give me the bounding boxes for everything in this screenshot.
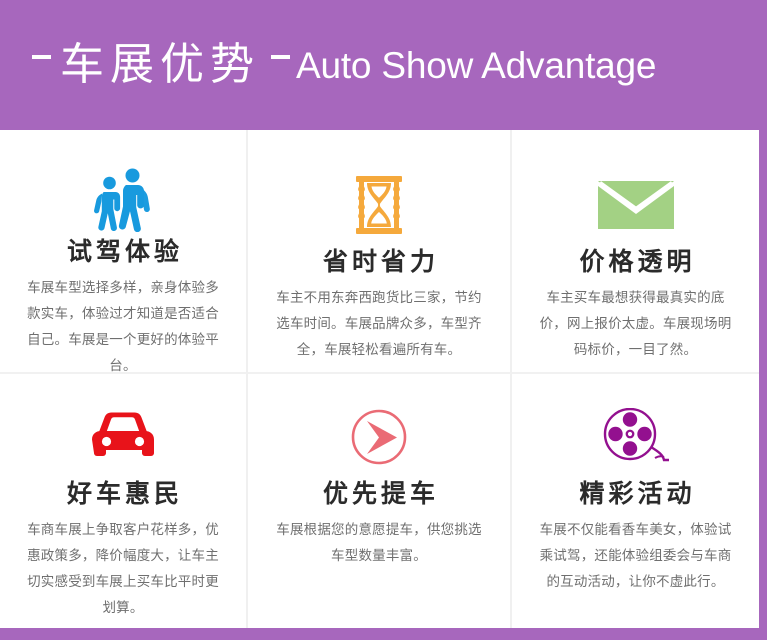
right-purple-border bbox=[759, 130, 767, 640]
feature-description: 车展不仅能看香车美女，体验试乘试驾，还能体验组委会与车商的互动活动，让你不虚此行… bbox=[534, 517, 737, 596]
feature-card-priority-pickup: 优先提车 车展根据您的意愿提车，供您挑选车型数量丰富。 bbox=[248, 374, 512, 628]
feature-card-exciting-events: 精彩活动 车展不仅能看香车美女，体验试乘试驾，还能体验组委会与车商的互动活动，让… bbox=[512, 374, 759, 628]
feature-title: 省时省力 bbox=[319, 248, 439, 276]
feature-title: 精彩活动 bbox=[575, 480, 695, 508]
feature-grid: 试驾体验 车展车型选择多样，亲身体验多款实车，体验过才知道是否适合自己。车展是一… bbox=[0, 130, 759, 628]
film-reel-icon bbox=[601, 400, 671, 474]
feature-card-good-car-benefit: 好车惠民 车商车展上争取客户花样多，优惠政策多，降价幅度大，让车主切实感受到车展… bbox=[0, 374, 248, 628]
arrow-in-circle-icon bbox=[350, 400, 408, 474]
feature-description: 车主买车最想获得最真实的底价，网上报价太虚。车展现场明码标价，一目了然。 bbox=[534, 285, 737, 364]
feature-card-test-drive: 试驾体验 车展车型选择多样，亲身体验多款实车，体验过才知道是否适合自己。车展是一… bbox=[0, 130, 248, 374]
right-dash-decoration bbox=[271, 55, 290, 59]
feature-title: 好车惠民 bbox=[63, 480, 183, 508]
car-front-icon bbox=[88, 400, 158, 474]
feature-card-save-time: 省时省力 车主不用东奔西跑货比三家，节约选车时间。车展品牌众多，车型齐全，车展轻… bbox=[248, 130, 512, 374]
hourglass-icon bbox=[350, 168, 408, 242]
feature-description: 车商车展上争取客户花样多，优惠政策多，降价幅度大，让车主切实感受到车展上买车比平… bbox=[22, 517, 224, 622]
page-title-english: Auto Show Advantage bbox=[296, 47, 656, 84]
left-dash-decoration bbox=[32, 55, 51, 59]
feature-description: 车展车型选择多样，亲身体验多款实车，体验过才知道是否适合自己。车展是一个更好的体… bbox=[22, 275, 224, 380]
feature-title: 试驾体验 bbox=[63, 238, 183, 266]
page-title-chinese: 车展优势 bbox=[60, 43, 260, 87]
couple-walking-icon bbox=[92, 168, 154, 232]
auto-show-advantage-page: 车展优势 Auto Show Advantage bbox=[0, 0, 767, 640]
feature-description: 车展根据您的意愿提车，供您挑选车型数量丰富。 bbox=[273, 517, 486, 570]
feature-description: 车主不用东奔西跑货比三家，节约选车时间。车展品牌众多，车型齐全，车展轻松看遍所有… bbox=[273, 285, 486, 364]
feature-title: 优先提车 bbox=[319, 480, 439, 508]
page-header-banner: 车展优势 Auto Show Advantage bbox=[0, 0, 767, 130]
feature-title: 价格透明 bbox=[575, 248, 695, 276]
envelope-icon bbox=[598, 168, 674, 242]
feature-card-transparent-price: 价格透明 车主买车最想获得最真实的底价，网上报价太虚。车展现场明码标价，一目了然… bbox=[512, 130, 759, 374]
bottom-purple-border bbox=[0, 628, 767, 640]
banner-title-group: 车展优势 Auto Show Advantage bbox=[32, 0, 656, 130]
